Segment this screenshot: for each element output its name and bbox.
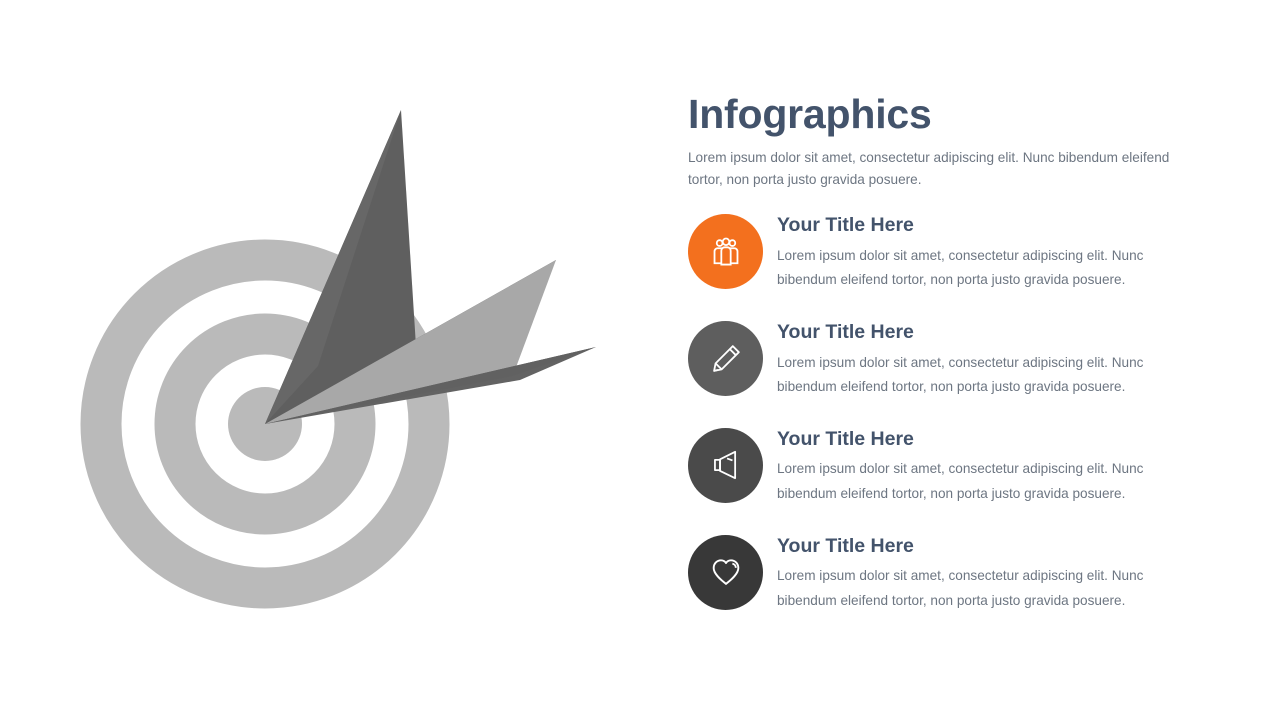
list-item-description: Lorem ipsum dolor sit amet, consectetur … bbox=[777, 564, 1181, 613]
icon-badge-speaker[interactable] bbox=[688, 428, 763, 503]
users-group-icon bbox=[709, 235, 743, 269]
list-item-title: Your Title Here bbox=[777, 321, 1200, 343]
heart-icon bbox=[709, 555, 743, 589]
icon-badge-pencil[interactable] bbox=[688, 321, 763, 396]
list-item-description: Lorem ipsum dolor sit amet, consectetur … bbox=[777, 457, 1181, 506]
list-item[interactable]: Your Title Here Lorem ipsum dolor sit am… bbox=[688, 535, 1200, 614]
infographic-slide: Infographics Lorem ipsum dolor sit amet,… bbox=[0, 0, 1280, 720]
list-item[interactable]: Your Title Here Lorem ipsum dolor sit am… bbox=[688, 214, 1200, 293]
target-with-dart-illustration bbox=[60, 80, 640, 640]
list-item-title: Your Title Here bbox=[777, 428, 1200, 450]
feature-list: Your Title Here Lorem ipsum dolor sit am… bbox=[688, 214, 1200, 614]
list-item-description: Lorem ipsum dolor sit amet, consectetur … bbox=[777, 244, 1181, 293]
list-item-title: Your Title Here bbox=[777, 535, 1200, 557]
list-item[interactable]: Your Title Here Lorem ipsum dolor sit am… bbox=[688, 321, 1200, 400]
page-subtitle: Lorem ipsum dolor sit amet, consectetur … bbox=[688, 147, 1180, 190]
list-item-description: Lorem ipsum dolor sit amet, consectetur … bbox=[777, 351, 1181, 400]
list-item-title: Your Title Here bbox=[777, 214, 1200, 236]
megaphone-speaker-icon bbox=[709, 448, 743, 482]
icon-badge-heart[interactable] bbox=[688, 535, 763, 610]
content-column: Infographics Lorem ipsum dolor sit amet,… bbox=[688, 92, 1200, 614]
icon-badge-users[interactable] bbox=[688, 214, 763, 289]
pencil-icon bbox=[709, 342, 743, 376]
list-item[interactable]: Your Title Here Lorem ipsum dolor sit am… bbox=[688, 428, 1200, 507]
page-title: Infographics bbox=[688, 92, 1200, 136]
